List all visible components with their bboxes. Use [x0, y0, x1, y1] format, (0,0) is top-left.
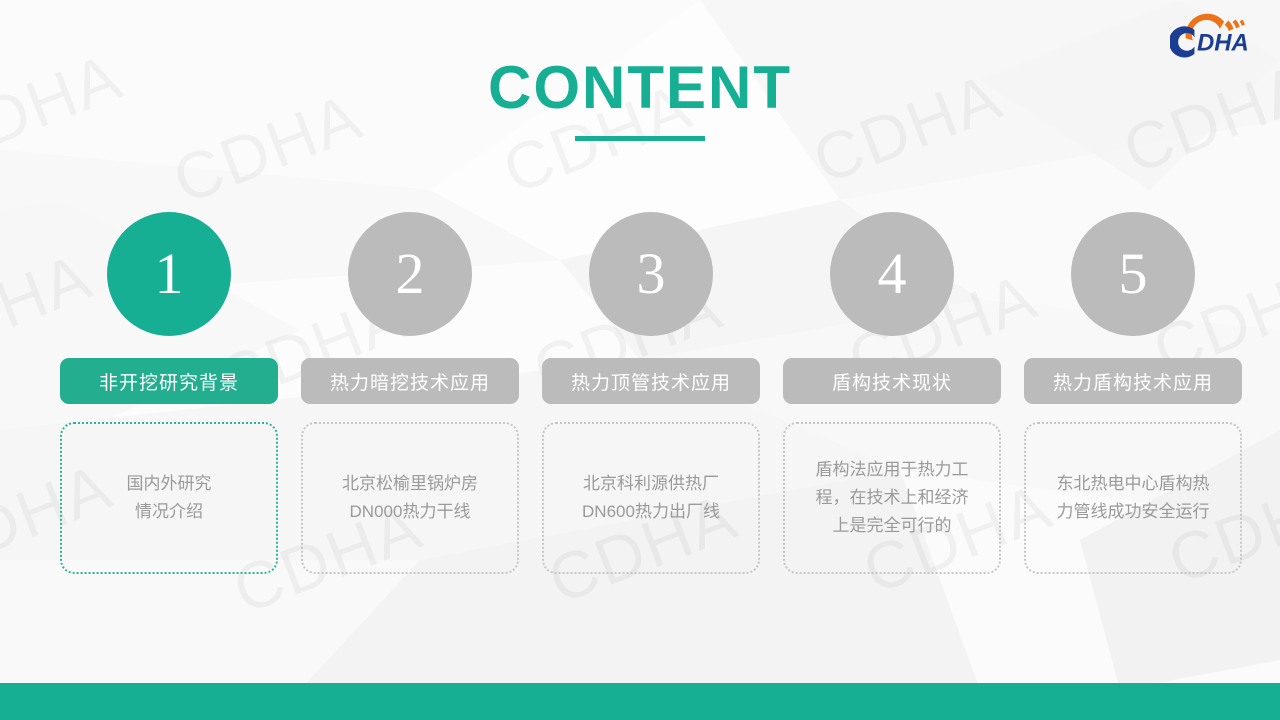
bottom-accent-bar	[0, 683, 1280, 720]
step-label-tab[interactable]: 热力盾构技术应用	[1024, 358, 1242, 404]
step-label-tab[interactable]: 盾构技术现状	[783, 358, 1001, 404]
step-label-tab[interactable]: 热力顶管技术应用	[542, 358, 760, 404]
content-item-1[interactable]: 1 非开挖研究背景 国内外研究 情况介绍	[60, 212, 278, 574]
step-number-circle[interactable]: 3	[589, 212, 713, 336]
step-number-circle[interactable]: 1	[107, 212, 231, 336]
content-columns: 1 非开挖研究背景 国内外研究 情况介绍 2 热力暗挖技术应用 北京松榆里锅炉房…	[60, 212, 1242, 574]
title-block: CONTENT	[0, 58, 1280, 141]
step-description-box: 国内外研究 情况介绍	[60, 422, 278, 574]
title-underline	[575, 136, 705, 141]
step-description-box: 北京松榆里锅炉房 DN000热力干线	[301, 422, 519, 574]
step-label-tab[interactable]: 热力暗挖技术应用	[301, 358, 519, 404]
step-label-tab[interactable]: 非开挖研究背景	[60, 358, 278, 404]
presentation-slide: CDHA CDHA CDHA CDHA CDHA CDHA CDHA CDHA …	[0, 0, 1280, 720]
content-item-2[interactable]: 2 热力暗挖技术应用 北京松榆里锅炉房 DN000热力干线	[301, 212, 519, 574]
step-number-circle[interactable]: 5	[1071, 212, 1195, 336]
content-item-3[interactable]: 3 热力顶管技术应用 北京科利源供热厂 DN600热力出厂线	[542, 212, 760, 574]
content-item-4[interactable]: 4 盾构技术现状 盾构法应用于热力工 程，在技术上和经济 上是完全可行的	[783, 212, 1001, 574]
step-description-box: 东北热电中心盾构热 力管线成功安全运行	[1024, 422, 1242, 574]
step-number-circle[interactable]: 4	[830, 212, 954, 336]
step-description-box: 盾构法应用于热力工 程，在技术上和经济 上是完全可行的	[783, 422, 1001, 574]
step-description-box: 北京科利源供热厂 DN600热力出厂线	[542, 422, 760, 574]
step-number-circle[interactable]: 2	[348, 212, 472, 336]
svg-text:DHA: DHA	[1197, 30, 1249, 57]
logo-blue-wordmark: DHA	[1170, 26, 1249, 57]
content-item-5[interactable]: 5 热力盾构技术应用 东北热电中心盾构热 力管线成功安全运行	[1024, 212, 1242, 574]
page-title: CONTENT	[0, 58, 1280, 118]
cdha-logo: DHA	[1170, 6, 1274, 58]
